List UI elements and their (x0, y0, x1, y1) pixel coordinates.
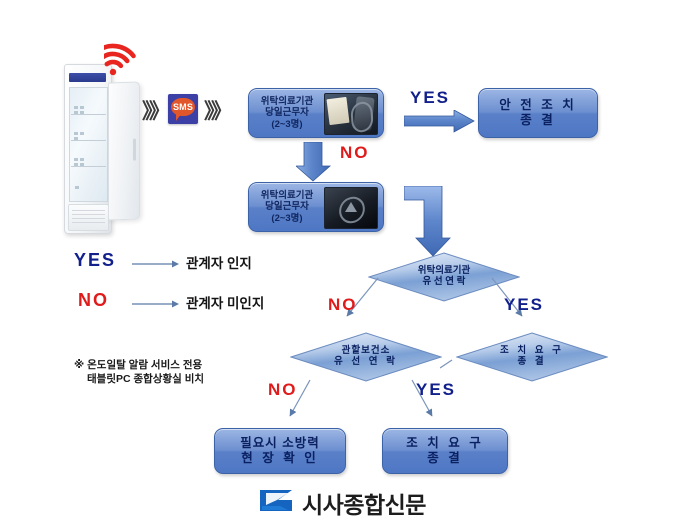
flow-chevrons-right: 》 》 (204, 98, 230, 124)
fridge-door-handle (133, 139, 136, 161)
arrow-right-yes (404, 110, 480, 134)
footnote: ※ 온도일탈 알람 서비스 전용 태블릿PC 종합상황실 비치 (74, 358, 294, 392)
watermark-name: 시사종합신문 (302, 486, 426, 520)
legend-meaning-no: 관계자 미인지 (186, 292, 264, 312)
fridge-open-door (108, 81, 140, 220)
label-yes-level2: YES (416, 380, 456, 400)
footnote-line-1: ※ 온도일탈 알람 서비스 전용 (74, 358, 294, 372)
chevron-icon: 》 (211, 98, 232, 124)
logo-mark-icon (258, 486, 298, 514)
arrow-elbow-to-hospital-call (404, 186, 462, 260)
arrow-down-no (296, 142, 336, 182)
fridge-body (64, 64, 112, 234)
phone-dark-photo (324, 187, 378, 229)
no-branch-top: NO (296, 142, 392, 182)
label-no-level1: NO (328, 295, 358, 315)
legend-arrow-yes-icon (132, 258, 180, 270)
node-safety-measure-done[interactable]: 안 전 조 치 종 결 (478, 88, 598, 138)
watermark: 시사종합신문 (258, 484, 448, 516)
connector-action-done (440, 356, 460, 374)
fridge-base (68, 204, 109, 231)
label-yes-level1: YES (504, 295, 544, 315)
sms-label: SMS (171, 98, 195, 116)
sms-bubble-tail (176, 114, 181, 121)
node-staff-first-contact[interactable]: 위탁의료기관 당일근무자 (2~3명) (248, 88, 384, 138)
node-action-required-done[interactable]: 조 치 요 구 종 결 (382, 428, 508, 474)
yes-branch-top: YES (404, 88, 480, 136)
node-staff-second-contact[interactable]: 위탁의료기관 당일근무자 (2~3명) (248, 182, 384, 232)
footnote-line-2: 태블릿PC 종합상황실 비치 (74, 372, 294, 386)
vaccine-refrigerator (64, 64, 142, 232)
chevron-icon: 》 (149, 98, 170, 124)
diagram-canvas: 》 》 SMS 》 》 위탁의료기관 당일근무자 (2~3명) YES (0, 0, 680, 520)
node-action-required-done-label: 조 치 요 구 종 결 (383, 436, 507, 466)
legend-arrow-no-icon (132, 298, 180, 310)
label-no-top: NO (340, 143, 370, 163)
label-yes-top: YES (410, 88, 450, 108)
legend: YES 관계자 인지 NO 관계자 미인지 (70, 250, 290, 326)
legend-key-no: NO (78, 290, 109, 311)
fridge-glass-door (69, 87, 108, 202)
node-safety-measure-done-label: 안 전 조 치 종 결 (479, 98, 597, 128)
node-staff-second-label: 위탁의료기관 당일근무자 (2~3명) (255, 190, 319, 224)
phone-call-photo (324, 93, 378, 135)
node-fire-force-onsite-check[interactable]: 필요시 소방력 현 장 확 인 (214, 428, 346, 474)
wifi-signal-icon (104, 38, 150, 78)
flow-chevrons-left: 》 》 (142, 98, 168, 124)
legend-key-yes: YES (74, 250, 116, 271)
legend-meaning-yes: 관계자 인지 (186, 252, 252, 272)
sms-icon: SMS (168, 94, 198, 124)
fridge-display-panel (69, 73, 106, 82)
branch-lines-level2 (280, 358, 500, 424)
node-fire-force-onsite-check-label: 필요시 소방력 현 장 확 인 (215, 436, 345, 466)
node-staff-first-label: 위탁의료기관 당일근무자 (2~3명) (255, 96, 319, 130)
